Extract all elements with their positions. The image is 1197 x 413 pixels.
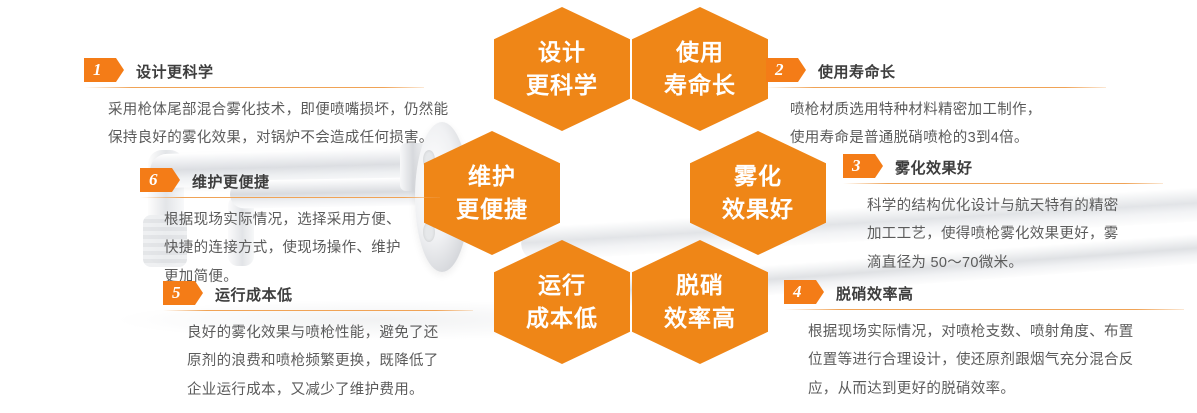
feature-3-title: 雾化效果好 xyxy=(895,157,973,178)
feature-6: 6 维护更便捷 根据现场实际情况，选择采用方便、 快捷的连接方式，使现场操作、维… xyxy=(140,166,440,291)
feature-4-title: 脱硝效率高 xyxy=(836,283,914,304)
feature-5-title: 运行成本低 xyxy=(215,284,293,305)
feature-3-header: 3 雾化效果好 xyxy=(843,152,1163,178)
feature-4-divider xyxy=(784,309,1184,310)
feature-3-body: 科学的结构优化设计与航天特有的精密 加工工艺，使得喷枪雾化效果更好，雾 滴直径为… xyxy=(843,192,1163,277)
feature-6-header: 6 维护更便捷 xyxy=(140,166,440,192)
feature-4-body-line: 根据现场实际情况，对喷枪支数、喷射角度、布置 xyxy=(808,318,1184,346)
hex-maintenance-line2: 更便捷 xyxy=(456,193,528,226)
feature-3-number-badge: 3 xyxy=(843,154,883,178)
feature-1-body: 采用枪体尾部混合雾化技术，即便喷嘴损坏，仍然能 保持良好的雾化效果，对锅炉不会造… xyxy=(84,96,424,153)
hex-denitration-line2: 效率高 xyxy=(664,302,736,335)
feature-1: 1 设计更科学 采用枪体尾部混合雾化技术，即便喷嘴损坏，仍然能 保持良好的雾化效… xyxy=(84,56,424,153)
feature-5-body-line: 良好的雾化效果与喷枪性能，避免了还 xyxy=(187,319,473,347)
feature-4-body: 根据现场实际情况，对喷枪支数、喷射角度、布置 位置等进行合理设计，使还原剂跟烟气… xyxy=(784,318,1184,403)
feature-2-title: 使用寿命长 xyxy=(818,61,896,82)
feature-4-body-line: 位置等进行合理设计，使还原剂跟烟气充分混合反 xyxy=(808,346,1184,374)
hex-maintenance-line1: 维护 xyxy=(468,160,516,193)
feature-2-body: 喷枪材质选用特种材料精密加工制作， 使用寿命是普通脱硝喷枪的3到4倍。 xyxy=(766,96,1106,153)
hex-atomizing-line1: 雾化 xyxy=(734,160,782,193)
feature-1-title: 设计更科学 xyxy=(136,61,214,82)
feature-3-body-line: 科学的结构优化设计与航天特有的精密 xyxy=(867,192,1163,220)
feature-6-number-badge: 6 xyxy=(140,168,180,192)
feature-1-number-badge: 1 xyxy=(84,58,124,82)
feature-6-title: 维护更便捷 xyxy=(192,171,270,192)
feature-6-body-line: 快捷的连接方式，使现场操作、维护 xyxy=(164,234,440,262)
feature-2-number-badge: 2 xyxy=(766,58,806,82)
feature-2-divider xyxy=(766,87,1106,88)
feature-4-number-badge: 4 xyxy=(784,280,824,304)
hex-cost-line1: 运行 xyxy=(538,269,586,302)
feature-5-header: 5 运行成本低 xyxy=(163,279,473,305)
feature-5-body: 良好的雾化效果与喷枪性能，避免了还 原剂的浪费和喷枪频繁更换，既降低了 企业运行… xyxy=(163,319,473,404)
feature-3-body-line: 加工工艺，使得喷枪雾化效果更好，雾 xyxy=(867,220,1163,248)
feature-5-body-line: 企业运行成本，又减少了维护费用。 xyxy=(187,376,473,404)
hex-atomizing-line2: 效果好 xyxy=(722,193,794,226)
feature-2-header: 2 使用寿命长 xyxy=(766,56,1106,82)
feature-4-body-line: 应，从而达到更好的脱硝效率。 xyxy=(808,375,1184,403)
feature-1-body-line: 采用枪体尾部混合雾化技术，即便喷嘴损坏，仍然能 xyxy=(108,96,424,124)
feature-2: 2 使用寿命长 喷枪材质选用特种材料精密加工制作， 使用寿命是普通脱硝喷枪的3到… xyxy=(766,56,1106,153)
feature-5-divider xyxy=(163,310,473,311)
feature-4: 4 脱硝效率高 根据现场实际情况，对喷枪支数、喷射角度、布置 位置等进行合理设计… xyxy=(784,278,1184,403)
hex-design-line1: 设计 xyxy=(538,36,586,69)
feature-3-divider xyxy=(843,183,1163,184)
feature-6-divider xyxy=(140,197,440,198)
feature-2-body-line: 使用寿命是普通脱硝喷枪的3到4倍。 xyxy=(790,124,1106,152)
feature-5-body-line: 原剂的浪费和喷枪频繁更换，既降低了 xyxy=(187,347,473,375)
feature-4-header: 4 脱硝效率高 xyxy=(784,278,1184,304)
feature-1-header: 1 设计更科学 xyxy=(84,56,424,82)
feature-6-body-line: 根据现场实际情况，选择采用方便、 xyxy=(164,206,440,234)
hex-denitration-line1: 脱硝 xyxy=(676,269,724,302)
feature-1-divider xyxy=(84,87,424,88)
feature-3-body-line: 滴直径为 50～70微米。 xyxy=(867,249,1163,277)
hex-lifespan-line2: 寿命长 xyxy=(664,69,736,102)
feature-5: 5 运行成本低 良好的雾化效果与喷枪性能，避免了还 原剂的浪费和喷枪频繁更换，既… xyxy=(163,279,473,404)
hex-design-line2: 更科学 xyxy=(526,69,598,102)
feature-5-number-badge: 5 xyxy=(163,281,203,305)
feature-2-body-line: 喷枪材质选用特种材料精密加工制作， xyxy=(790,96,1106,124)
feature-1-body-line: 保持良好的雾化效果，对锅炉不会造成任何损害。 xyxy=(108,124,424,152)
feature-3: 3 雾化效果好 科学的结构优化设计与航天特有的精密 加工工艺，使得喷枪雾化效果更… xyxy=(843,152,1163,277)
hex-lifespan-line1: 使用 xyxy=(676,36,724,69)
hex-cost-line2: 成本低 xyxy=(526,302,598,335)
